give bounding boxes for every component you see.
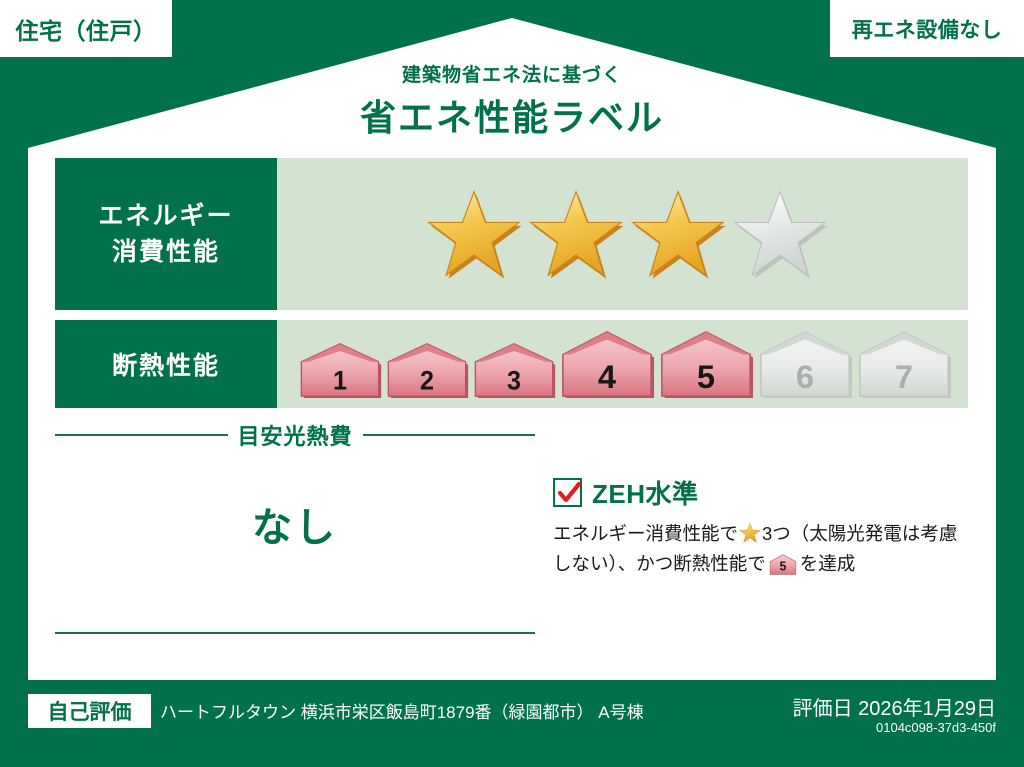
star-icon: [426, 186, 522, 282]
insulation-performance-value: 1 2 3 4 5: [277, 320, 968, 408]
evaluation-date: 評価日 2026年1月29日: [793, 692, 996, 721]
energy-performance-value: [277, 158, 968, 310]
zeh-title-text: ZEH水準: [592, 474, 699, 511]
insulation-level-badge: 6: [757, 330, 853, 398]
insulation-level-scale: 1 2 3 4 5: [298, 330, 952, 398]
svg-text:5: 5: [696, 359, 714, 395]
property-name: ハートフルタウン 横浜市栄区飯島町1879番（緑園都市） A号棟: [160, 698, 644, 723]
svg-text:7: 7: [894, 359, 912, 395]
zeh-desc-part1: エネルギー消費性能で: [553, 523, 738, 544]
star-icon: [739, 522, 761, 544]
utility-cost-bottom-rule: [55, 632, 535, 634]
utility-cost-heading-text: 目安光熱費: [238, 419, 353, 451]
svg-text:5: 5: [779, 559, 786, 573]
insulation-level-badge: 5: [769, 554, 797, 575]
insulation-level-badge: 4: [559, 330, 655, 398]
svg-text:3: 3: [506, 365, 520, 396]
energy-performance-label: 住宅（住戸） 再エネ設備なし 建築物省エネ法に基づく 省エネ性能ラベル エネルギ…: [0, 0, 1024, 767]
insulation-level-badge: 2: [385, 342, 469, 398]
star-icon: [732, 186, 828, 282]
insulation-performance-row: 断熱性能 1 2 3 4: [55, 320, 968, 408]
title-subtitle: 建築物省エネ法に基づく: [28, 60, 996, 87]
page-title: 省エネ性能ラベル: [28, 89, 996, 141]
zeh-checkbox: [553, 478, 582, 507]
label-footer: 自己評価 ハートフルタウン 横浜市栄区飯島町1879番（緑園都市） A号棟 評価…: [0, 680, 1024, 767]
zeh-title-line: ZEH水準: [553, 474, 973, 511]
zeh-desc-star-count: 3つ（太陽光発電: [762, 523, 902, 544]
insulation-level-badge: 3: [472, 342, 556, 398]
tag-dwelling-label: 住宅（住戸）: [16, 12, 157, 46]
insulation-level-badge: 1: [298, 342, 382, 398]
heading-rule-left: [55, 434, 228, 436]
zeh-standard-block: ZEH水準 エネルギー消費性能で 3つ（太陽光発電は考慮しない）、かつ断熱性能で…: [553, 474, 973, 578]
star-icon: [630, 186, 726, 282]
zeh-description: エネルギー消費性能で 3つ（太陽光発電は考慮しない）、かつ断熱性能で 5を達成: [553, 519, 973, 578]
evaluation-id: 0104c098-37d3-450f: [876, 720, 996, 735]
title-block: 建築物省エネ法に基づく 省エネ性能ラベル: [28, 60, 996, 141]
evaluation-type-label: 自己評価: [48, 696, 132, 726]
inline-house-icon: 5: [769, 554, 797, 575]
svg-text:1: 1: [332, 365, 346, 396]
inline-star-icon: [739, 522, 761, 544]
utility-cost-value: なし: [55, 495, 535, 553]
star-rating: [426, 186, 828, 282]
energy-label-line2: 消費性能: [112, 234, 220, 270]
tag-dwelling-type: 住宅（住戸）: [0, 0, 172, 57]
energy-label-line1: エネルギー: [98, 198, 233, 234]
svg-text:2: 2: [419, 365, 433, 396]
star-icon: [528, 186, 624, 282]
evaluation-type-badge: 自己評価: [28, 694, 151, 728]
energy-performance-label: エネルギー 消費性能: [55, 158, 277, 310]
zeh-desc-part3: を達成: [800, 553, 856, 574]
insulation-label-text: 断熱性能: [112, 346, 220, 382]
utility-cost-heading: 目安光熱費: [55, 418, 535, 452]
svg-text:6: 6: [795, 359, 813, 395]
energy-performance-row: エネルギー 消費性能: [55, 158, 968, 310]
check-icon: [557, 481, 582, 506]
insulation-level-badge: 5: [658, 330, 754, 398]
insulation-performance-label: 断熱性能: [55, 320, 277, 408]
tag-renewable-label: 再エネ設備なし: [852, 14, 1003, 44]
svg-text:4: 4: [597, 359, 615, 395]
heading-rule-right: [363, 434, 536, 436]
insulation-level-badge: 7: [856, 330, 952, 398]
tag-renewable-energy: 再エネ設備なし: [830, 0, 1024, 57]
